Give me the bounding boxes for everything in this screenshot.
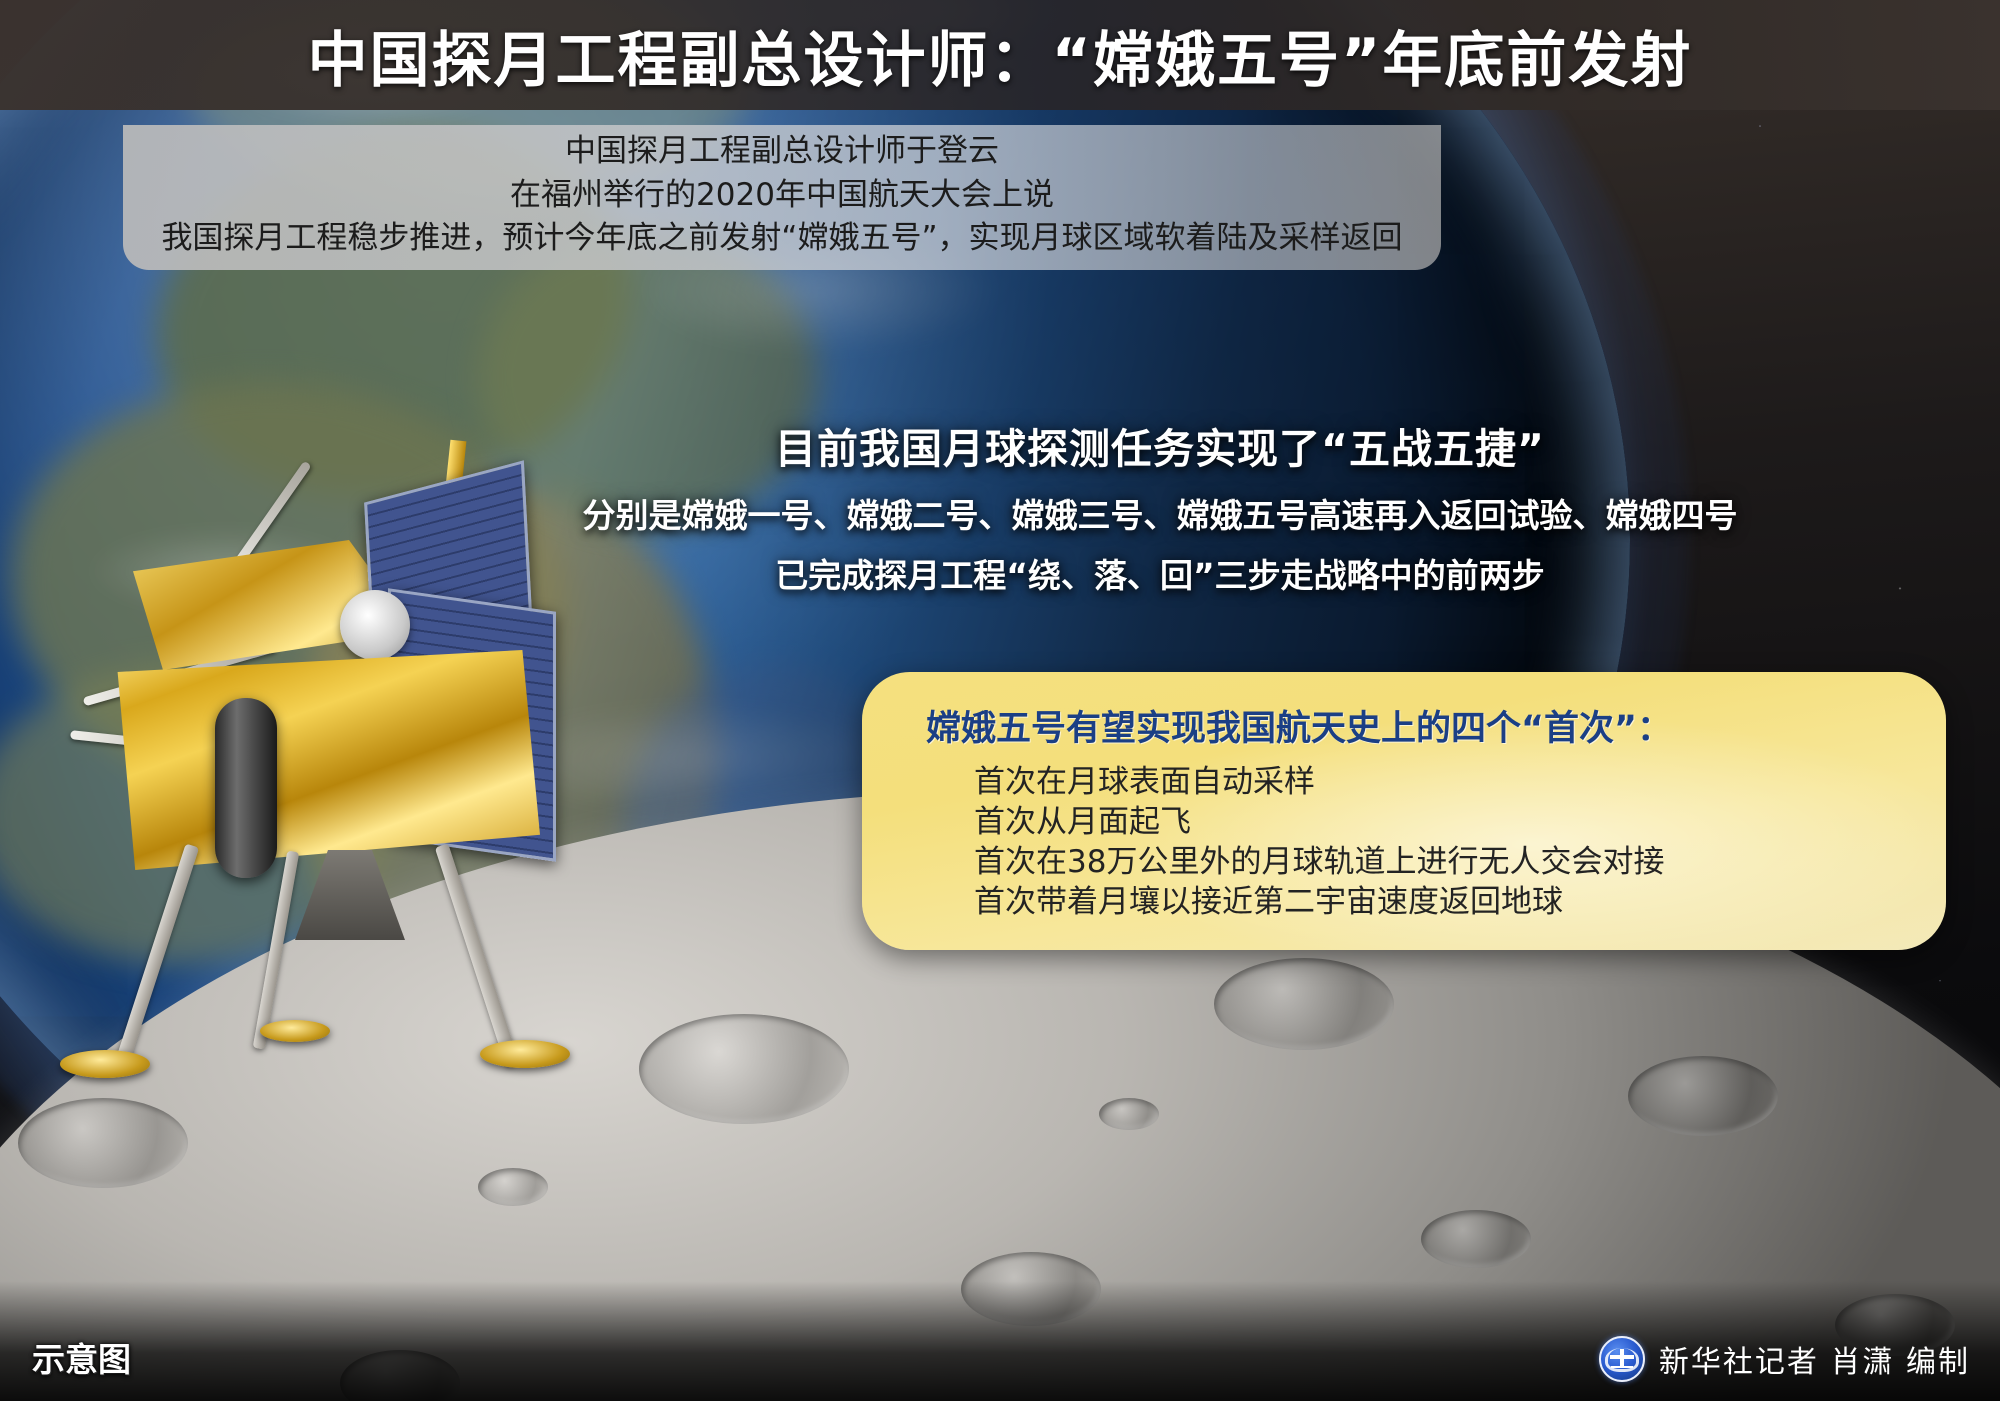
firsts-item: 首次带着月壤以接近第二宇宙速度返回地球 [974,883,1912,923]
schematic-label: 示意图 [32,1333,131,1381]
achievements-line-1: 分别是嫦娥一号、嫦娥二号、嫦娥三号、嫦娥五号高速再入返回试验、嫦娥四号 [360,489,1960,537]
credit-text: 新华社记者 肖潇 编制 [1659,1337,1970,1381]
achievements-line-2: 已完成探月工程“绕、落、回”三步走战略中的前两步 [360,549,1960,597]
xinhua-logo-icon [1599,1336,1645,1382]
firsts-panel: 嫦娥五号有望实现我国航天史上的四个“首次”： 首次在月球表面自动采样 首次从月面… [862,672,1946,950]
firsts-item: 首次从月面起飞 [974,803,1912,843]
firsts-item: 首次在38万公里外的月球轨道上进行无人交会对接 [974,843,1912,883]
quote-line-2: 在福州举行的2020年中国航天大会上说 [510,174,1054,217]
credit-block: 新华社记者 肖潇 编制 [1599,1336,1970,1382]
engine-nozzle-icon [295,850,405,940]
quote-panel: 中国探月工程副总设计师于登云 在福州举行的2020年中国航天大会上说 我国探月工… [123,125,1441,270]
firsts-panel-heading: 嫦娥五号有望实现我国航天史上的四个“首次”： [926,700,1912,751]
infographic-canvas: 中国探月工程副总设计师：“嫦娥五号”年底前发射 中国探月工程副总设计师于登云 在… [0,0,2000,1401]
quote-line-1: 中国探月工程副总设计师于登云 [565,130,999,173]
title-bar: 中国探月工程副总设计师：“嫦娥五号”年底前发射 [0,0,2000,110]
page-title: 中国探月工程副总设计师：“嫦娥五号”年底前发射 [308,12,1693,99]
quote-line-3: 我国探月工程稳步推进，预计今年底之前发射“嫦娥五号”，实现月球区域软着陆及采样返… [161,217,1402,260]
firsts-item: 首次在月球表面自动采样 [974,763,1912,803]
achievements-heading: 目前我国月球探测任务实现了“五战五捷” [360,415,1960,475]
achievements-block: 目前我国月球探测任务实现了“五战五捷” 分别是嫦娥一号、嫦娥二号、嫦娥三号、嫦娥… [360,415,1960,609]
